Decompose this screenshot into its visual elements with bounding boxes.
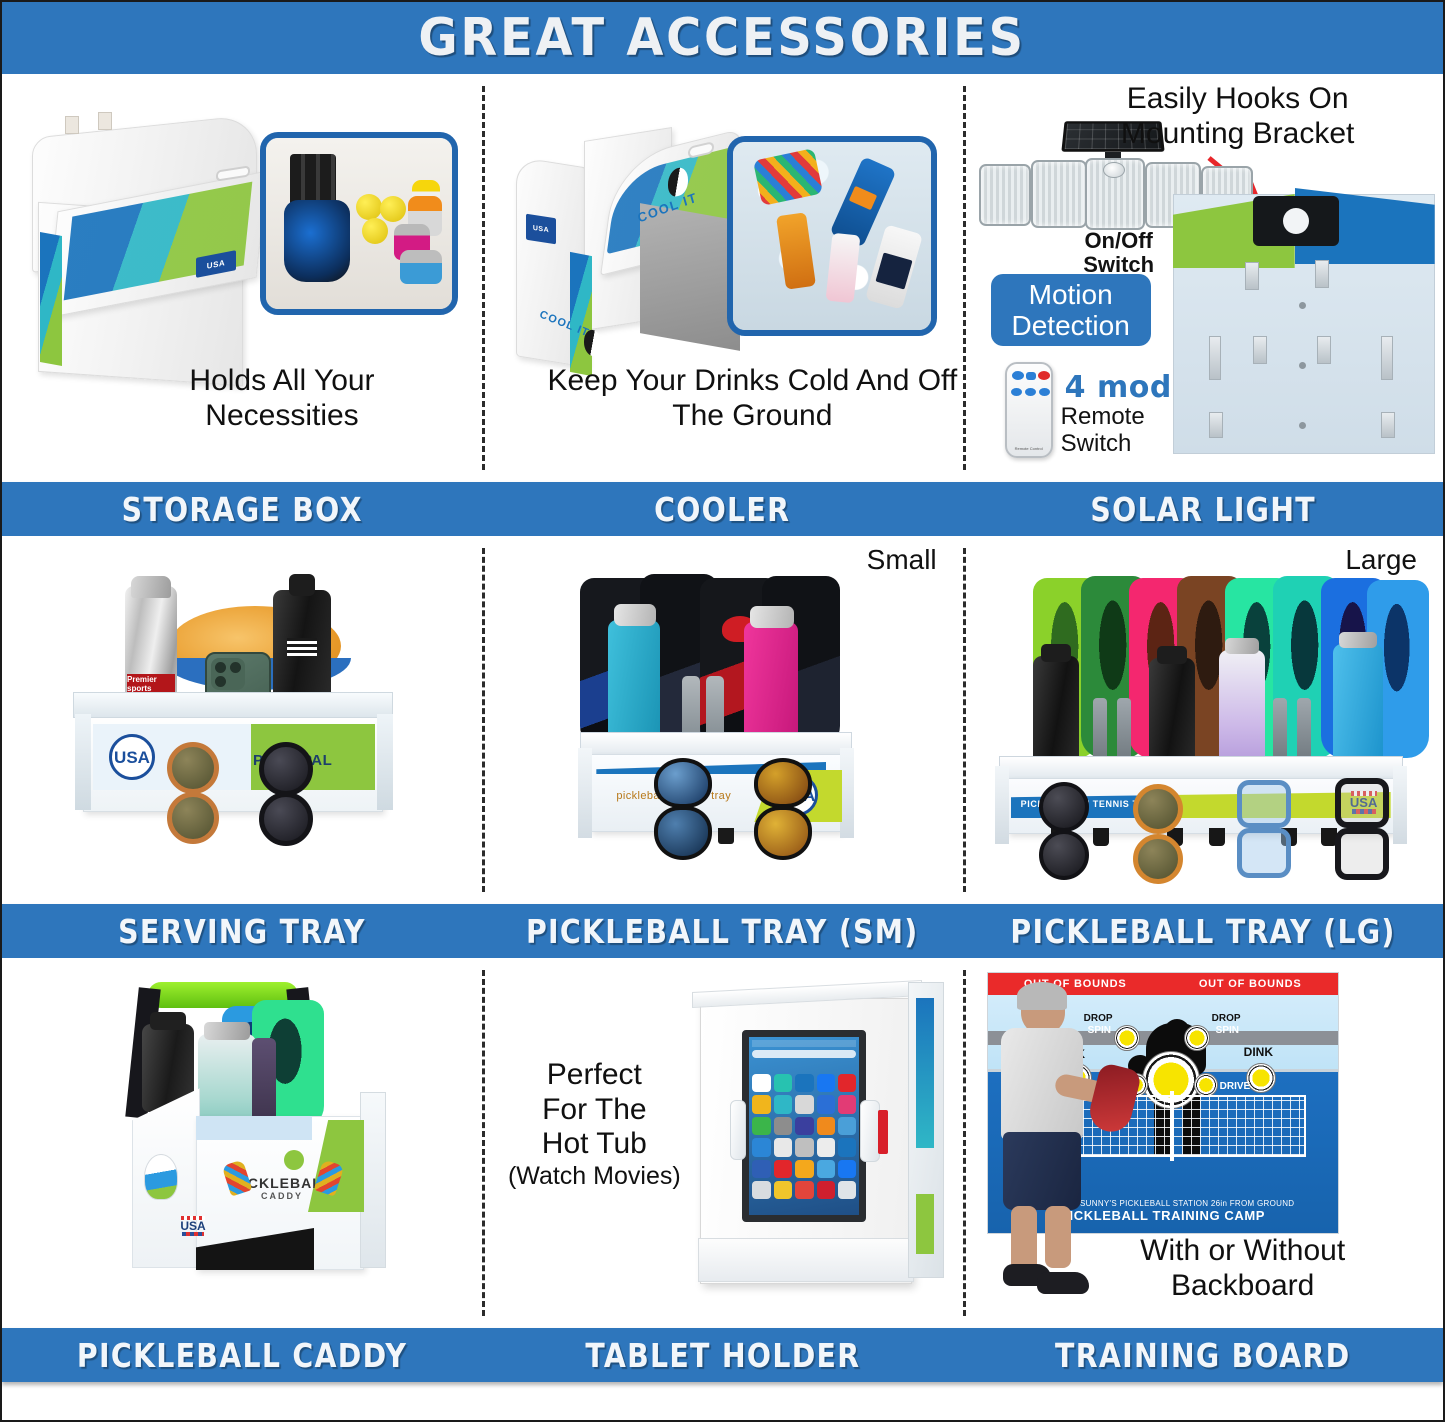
label-dink-right: DINK xyxy=(1244,1045,1273,1059)
sunglass-lens xyxy=(1133,834,1183,884)
bottle-black-2 xyxy=(1149,658,1195,766)
plate-clip xyxy=(1381,412,1395,438)
sunglasses-gold-sport xyxy=(750,758,822,870)
label-serving-tray: SERVING TRAY xyxy=(2,912,482,951)
paddle-handle-slot xyxy=(1273,698,1287,764)
motion-detection-badge[interactable]: Motion Detection xyxy=(991,274,1151,346)
serving-tray-made-in-usa-badge: USA xyxy=(109,734,155,780)
sunglasses-black-round xyxy=(1037,782,1097,886)
oob-right-text: OUT OF BOUNDS xyxy=(1199,978,1302,990)
pickleball-tray-sm-photo: USA pickleball / tennis tray xyxy=(554,572,884,872)
eyeglass-lens xyxy=(1335,778,1389,828)
target-drive-right xyxy=(1194,1073,1218,1097)
bottle-pink xyxy=(744,622,798,750)
app-icon[interactable] xyxy=(752,1181,770,1199)
bottle-teal-cap xyxy=(614,604,656,626)
storage-box-hook xyxy=(65,116,79,134)
plate-clip xyxy=(1317,336,1331,364)
storage-box-hook xyxy=(98,112,112,130)
cooler-interior xyxy=(640,203,740,351)
led-panel xyxy=(1031,160,1087,228)
sunglass-lens xyxy=(1133,784,1183,834)
steel-bottle-label: Premier sports xyxy=(127,674,175,694)
phone-camera-lens xyxy=(215,662,226,673)
product-cell-pickleball-tray-sm[interactable]: Small US xyxy=(482,536,962,904)
tray-leg xyxy=(840,748,854,838)
eyeglasses-blue xyxy=(1235,780,1299,886)
caddy-side-mascot xyxy=(144,1154,178,1200)
wifi-icon xyxy=(1026,372,1036,380)
app-icon[interactable] xyxy=(774,1074,792,1092)
app-icon[interactable] xyxy=(774,1160,792,1178)
eyeglass-lens xyxy=(1237,780,1291,828)
usa-text: USA xyxy=(180,1220,205,1232)
product-row-1: USA Holds A xyxy=(2,74,1443,482)
penguin-icon xyxy=(584,328,602,357)
led-panel xyxy=(979,164,1031,226)
remote-control-footer-text: Remote Control xyxy=(1007,446,1051,451)
tablet-holder-side-green xyxy=(916,1194,934,1254)
paddle-handle-slot xyxy=(1093,698,1107,764)
remote-mode-button[interactable] xyxy=(1039,388,1050,396)
mounting-bracket xyxy=(1253,196,1339,246)
tray-lg-leg xyxy=(995,766,1009,844)
player-leg xyxy=(1045,1206,1071,1268)
product-cell-training-board[interactable]: OUT OF BOUNDS OUT OF BOUNDS DROP xyxy=(963,958,1443,1328)
bottle-black-1-cap xyxy=(1041,644,1071,662)
bottle-lavender xyxy=(1219,650,1265,766)
remote-on-button[interactable] xyxy=(1012,371,1024,380)
bracket-hole xyxy=(1283,208,1309,234)
remote-switch-label: Remote Switch xyxy=(1061,404,1191,458)
plate-clip xyxy=(1253,336,1267,364)
eyeglass-lens xyxy=(1335,828,1389,880)
target-drop-spin-right xyxy=(1184,1025,1210,1051)
app-icon[interactable] xyxy=(838,1160,856,1178)
caddy-blue-accent xyxy=(196,1116,312,1140)
app-icon[interactable] xyxy=(817,1095,835,1113)
page-title-banner: GREAT ACCESSORIES xyxy=(2,2,1443,74)
tray-foot-nub xyxy=(1209,828,1225,846)
storage-box-photo: USA xyxy=(20,104,300,394)
remote-mode-button[interactable] xyxy=(1011,388,1022,396)
app-icon[interactable] xyxy=(774,1181,792,1199)
sunglass-lens xyxy=(654,758,712,808)
app-icon[interactable] xyxy=(838,1117,856,1135)
cooler-made-in-usa-badge: USA xyxy=(526,214,556,245)
label-pickleball-caddy: PICKLEBALL CADDY xyxy=(2,1336,482,1375)
phone-camera-lens xyxy=(230,662,241,673)
sunglass-lens xyxy=(754,758,812,808)
serving-tray-leg xyxy=(377,714,393,810)
plate-screw xyxy=(1299,362,1306,369)
caddy-usa-badge: USA xyxy=(176,1212,210,1240)
tablet-clamp-red-tab xyxy=(878,1110,888,1154)
plate-screw xyxy=(1299,302,1306,309)
app-icon[interactable] xyxy=(795,1138,813,1156)
whiffle-ball xyxy=(380,196,406,222)
tablet-device[interactable] xyxy=(742,1030,866,1222)
product-cell-solar-light[interactable]: Easily Hooks On Mounting Bracket On/Off … xyxy=(963,74,1443,482)
plate-screw xyxy=(1299,422,1306,429)
usa-stars xyxy=(182,1232,204,1236)
pickleball-caddy-photo: PICKLEBALL CADDY USA xyxy=(80,972,410,1312)
sunglasses-tortoise-round xyxy=(1131,784,1191,890)
serving-tray-shelf xyxy=(73,692,393,718)
plate-clip xyxy=(1315,260,1329,288)
sunglass-lens xyxy=(1039,782,1089,832)
bottle-cyan xyxy=(1333,644,1383,766)
app-icon[interactable] xyxy=(817,1117,835,1135)
bottle-blue xyxy=(400,250,442,284)
app-icon[interactable] xyxy=(752,1095,770,1113)
bottle-teal xyxy=(608,620,660,748)
tablet-holder-bottom-shelf xyxy=(698,1238,914,1282)
bottle-black-2-cap xyxy=(1157,646,1187,664)
sunglass-lens xyxy=(1039,830,1089,880)
app-icon[interactable] xyxy=(817,1160,835,1178)
label-solar-light: SOLAR LIGHT xyxy=(963,490,1443,529)
tablet-clamp-right xyxy=(860,1100,880,1162)
sunglass-lens xyxy=(654,806,712,860)
bottle-lavender-cap xyxy=(1225,638,1259,654)
caddy-logo-line2: CADDY xyxy=(261,1191,303,1201)
app-icon[interactable] xyxy=(817,1138,835,1156)
cooler-caption: Keep Your Drinks Cold And Off The Ground xyxy=(542,364,962,433)
solar-light-caption: Easily Hooks On Mounting Bracket xyxy=(1073,82,1403,151)
tablet-status-bar xyxy=(752,1040,856,1047)
label-bar-row-3: PICKLEBALL CADDY TABLET HOLDER TRAINING … xyxy=(2,1328,1443,1382)
label-spin-right: SPIN xyxy=(1216,1025,1239,1036)
app-icon[interactable] xyxy=(774,1138,792,1156)
sunglasses-blue-sport xyxy=(650,758,722,868)
sunglasses-tortoise xyxy=(161,736,227,846)
label-bar-row-1: STORAGE BOX COOLER SOLAR LIGHT xyxy=(2,482,1443,536)
app-icon[interactable] xyxy=(838,1138,856,1156)
app-icon[interactable] xyxy=(795,1160,813,1178)
eyeglass-lens xyxy=(1237,828,1291,878)
on-off-switch-label: On/Off Switch xyxy=(1059,229,1179,277)
player-shoe xyxy=(1037,1272,1089,1294)
app-icon[interactable] xyxy=(774,1095,792,1113)
product-cell-pickleball-caddy[interactable]: PICKLEBALL CADDY USA xyxy=(2,958,482,1328)
label-drop-right: DROP xyxy=(1212,1013,1241,1024)
plate-clip xyxy=(1209,336,1221,380)
product-cell-cooler[interactable]: USA COOL IT COOL IT Keep Your Drinks Col… xyxy=(482,74,962,482)
app-icon[interactable] xyxy=(817,1181,835,1199)
net-post xyxy=(1170,1091,1174,1161)
remote-mode-button[interactable] xyxy=(1025,388,1036,396)
label-tablet-holder: TABLET HOLDER xyxy=(482,1336,962,1375)
pickleball-tray-lg-photo: PICKLEBALL / TENNIS TRAY USA xyxy=(981,570,1421,880)
tray-leg xyxy=(578,748,592,838)
player-hair xyxy=(1017,982,1067,1010)
bottle-black-1 xyxy=(1033,656,1079,766)
plate-clip xyxy=(1209,412,1223,438)
plate-clip xyxy=(1381,336,1393,380)
sunglass-lens xyxy=(167,792,219,844)
app-icon[interactable] xyxy=(752,1074,770,1092)
label-pickleball-tray-lg: PICKLEBALL TRAY (LG) xyxy=(963,912,1443,951)
sunglass-lens xyxy=(167,742,219,794)
tablet-holder-side-graphic xyxy=(916,998,934,1148)
product-cell-pickleball-tray-lg[interactable]: Large xyxy=(963,536,1443,904)
bottle-pink-cap xyxy=(750,606,794,628)
app-icon[interactable] xyxy=(752,1138,770,1156)
app-icon[interactable] xyxy=(774,1117,792,1135)
bottle-cyan-cap xyxy=(1339,632,1377,648)
caddy-bottle-black-cap xyxy=(150,1012,186,1030)
tablet-search-bar xyxy=(752,1050,856,1058)
player-shorts xyxy=(1003,1132,1081,1210)
app-icon[interactable] xyxy=(795,1117,813,1135)
product-cell-serving-tray[interactable]: Premier sports SA USA xyxy=(2,536,482,904)
size-tag-small: Small xyxy=(867,544,937,576)
app-icon[interactable] xyxy=(838,1181,856,1199)
app-icon[interactable] xyxy=(752,1117,770,1135)
label-pickleball-tray-sm: PICKLEBALL TRAY (SM) xyxy=(482,912,962,951)
product-row-3: PICKLEBALL CADDY USA Perfect For The Hot… xyxy=(2,958,1443,1328)
paddle-handle-slot xyxy=(1117,698,1131,764)
app-icon[interactable] xyxy=(838,1074,856,1092)
whiffle-ball xyxy=(356,194,382,220)
sunglass-lens xyxy=(754,806,812,860)
tablet-holder-caption: Perfect For The Hot Tub (Watch Movies) xyxy=(494,1058,694,1190)
tablet-holder-photo xyxy=(690,968,960,1318)
serving-tray-leg xyxy=(75,714,91,810)
label-training-board: TRAINING BOARD xyxy=(963,1336,1443,1375)
storage-box-caption: Holds All Your Necessities xyxy=(132,364,432,433)
app-icon[interactable] xyxy=(795,1074,813,1092)
app-icon[interactable] xyxy=(752,1160,770,1178)
label-storage-box: STORAGE BOX xyxy=(2,490,482,529)
product-row-2: Premier sports SA USA xyxy=(2,536,1443,904)
page-title: GREAT ACCESSORIES xyxy=(419,8,1026,68)
remote-control[interactable]: Remote Control xyxy=(1005,362,1053,458)
label-cooler: COOLER xyxy=(482,490,962,529)
serving-tray-photo: Premier sports SA USA xyxy=(57,566,417,876)
eyeglasses-black xyxy=(1333,778,1397,888)
motion-badge-line1: Motion xyxy=(1029,279,1113,310)
tablet-holder-caption-sub: (Watch Movies) xyxy=(494,1162,694,1191)
sunglass-lens xyxy=(259,792,313,846)
paddle-handle-slot xyxy=(1297,698,1311,764)
black-bottle-stripes xyxy=(287,638,317,656)
app-icon[interactable] xyxy=(817,1074,835,1092)
label-drive-right: DRIVE xyxy=(1220,1081,1251,1092)
product-cell-tablet-holder[interactable]: Perfect For The Hot Tub (Watch Movies) xyxy=(482,958,962,1328)
label-bar-row-2: SERVING TRAY PICKLEBALL TRAY (SM) PICKLE… xyxy=(2,904,1443,958)
sunglass-lens xyxy=(259,742,313,796)
tablet-clamp-left xyxy=(730,1100,746,1160)
cooler-side-graphic xyxy=(570,252,592,376)
remote-off-button[interactable] xyxy=(1038,371,1050,380)
size-tag-large: Large xyxy=(1345,544,1417,576)
storage-box-contents-inset xyxy=(260,132,458,315)
app-icon[interactable] xyxy=(795,1181,813,1199)
paddle-in-case xyxy=(284,200,350,282)
tablet-app-grid xyxy=(752,1074,856,1199)
steel-bottle-cap xyxy=(131,576,171,598)
training-board-caption: With or Without Backboard xyxy=(1083,1234,1403,1303)
sunglasses-black xyxy=(253,736,319,848)
plate-clip xyxy=(1245,262,1259,290)
target-drop-spin-left xyxy=(1114,1025,1140,1051)
whiffle-ball xyxy=(362,218,388,244)
infographic-page: GREAT ACCESSORIES USA xyxy=(0,0,1445,1422)
motion-sensor-dome xyxy=(1103,162,1125,178)
motion-badge-line2: Detection xyxy=(1012,310,1130,341)
app-icon[interactable] xyxy=(838,1095,856,1113)
player-leg xyxy=(1011,1206,1037,1272)
cooler-contents-inset xyxy=(727,136,937,336)
app-icon[interactable] xyxy=(795,1095,813,1113)
black-bottle-cap xyxy=(289,574,315,596)
storage-box-side-graphic xyxy=(40,232,62,366)
phone-camera-lens xyxy=(215,676,226,687)
caddy-bottle-mint-cap xyxy=(204,1022,250,1040)
product-cell-storage-box[interactable]: USA Holds A xyxy=(2,74,482,482)
